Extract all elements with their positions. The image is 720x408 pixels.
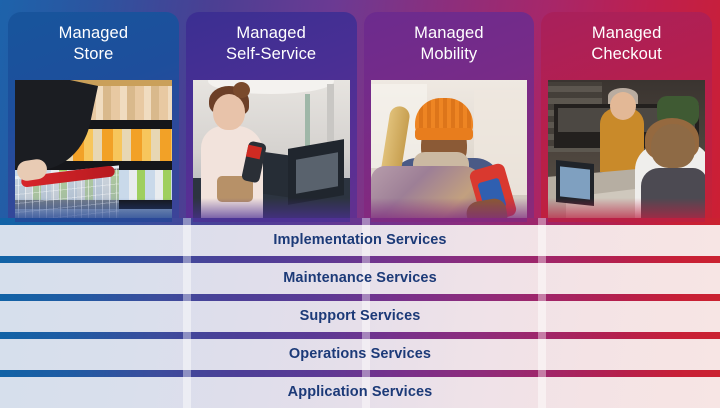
shopper-hair-bun bbox=[233, 82, 250, 98]
photo-bottom-fade bbox=[371, 198, 528, 222]
category-card-managed-mobility[interactable]: Managed Mobility bbox=[364, 12, 535, 222]
column-seam bbox=[538, 218, 546, 225]
service-row-label: Application Services bbox=[0, 377, 720, 408]
service-row-label: Maintenance Services bbox=[0, 263, 720, 294]
category-card-title: Managed Self-Service bbox=[186, 12, 357, 65]
photo-bottom-fade bbox=[15, 198, 172, 222]
shopper-head bbox=[213, 94, 245, 130]
category-card-photo-managed-checkout bbox=[548, 80, 705, 222]
row-divider bbox=[0, 294, 720, 301]
column-seam bbox=[183, 218, 191, 225]
photo-bottom-fade bbox=[548, 198, 705, 222]
category-card-title: Managed Store bbox=[8, 12, 179, 65]
category-card-title: Managed Checkout bbox=[541, 12, 712, 65]
column-seam bbox=[362, 332, 370, 339]
column-seam bbox=[538, 332, 546, 339]
column-seam bbox=[183, 294, 191, 301]
column-seam bbox=[362, 370, 370, 377]
service-row-implementation-services[interactable]: Implementation Services bbox=[0, 225, 720, 256]
column-seam bbox=[183, 332, 191, 339]
category-card-managed-self-service[interactable]: Managed Self-Service bbox=[186, 12, 357, 222]
column-seam bbox=[362, 256, 370, 263]
service-row-maintenance-services[interactable]: Maintenance Services bbox=[0, 263, 720, 294]
service-row-label: Support Services bbox=[0, 301, 720, 332]
column-seam bbox=[183, 370, 191, 377]
column-seam bbox=[538, 294, 546, 301]
service-row-label: Implementation Services bbox=[0, 225, 720, 256]
column-seam bbox=[362, 294, 370, 301]
service-rows: Implementation Services Maintenance Serv… bbox=[0, 218, 720, 408]
category-card-photo-managed-self-service bbox=[193, 80, 350, 222]
column-seam bbox=[538, 370, 546, 377]
service-row-support-services[interactable]: Support Services bbox=[0, 301, 720, 332]
kiosk-status-light bbox=[305, 94, 310, 152]
service-row-operations-services[interactable]: Operations Services bbox=[0, 339, 720, 370]
cashier-head bbox=[651, 124, 695, 168]
managed-services-infographic: Managed Store bbox=[0, 0, 720, 408]
row-divider bbox=[0, 332, 720, 339]
service-row-application-services[interactable]: Application Services bbox=[0, 377, 720, 408]
kiosk-screen bbox=[296, 152, 338, 193]
category-card-row: Managed Store bbox=[0, 0, 720, 222]
category-card-managed-checkout[interactable]: Managed Checkout bbox=[541, 12, 712, 222]
beanie-brim bbox=[415, 128, 473, 140]
category-card-managed-store[interactable]: Managed Store bbox=[8, 12, 179, 222]
column-seam bbox=[538, 256, 546, 263]
row-divider bbox=[0, 256, 720, 263]
category-card-title: Managed Mobility bbox=[364, 12, 535, 65]
category-card-photo-managed-mobility bbox=[371, 80, 528, 222]
till-monitor-screen bbox=[560, 166, 590, 199]
photo-bottom-fade bbox=[193, 198, 350, 222]
row-divider bbox=[0, 370, 720, 377]
column-seam bbox=[183, 256, 191, 263]
service-row-label: Operations Services bbox=[0, 339, 720, 370]
category-card-photo-managed-store bbox=[15, 80, 172, 222]
column-seam bbox=[362, 218, 370, 225]
